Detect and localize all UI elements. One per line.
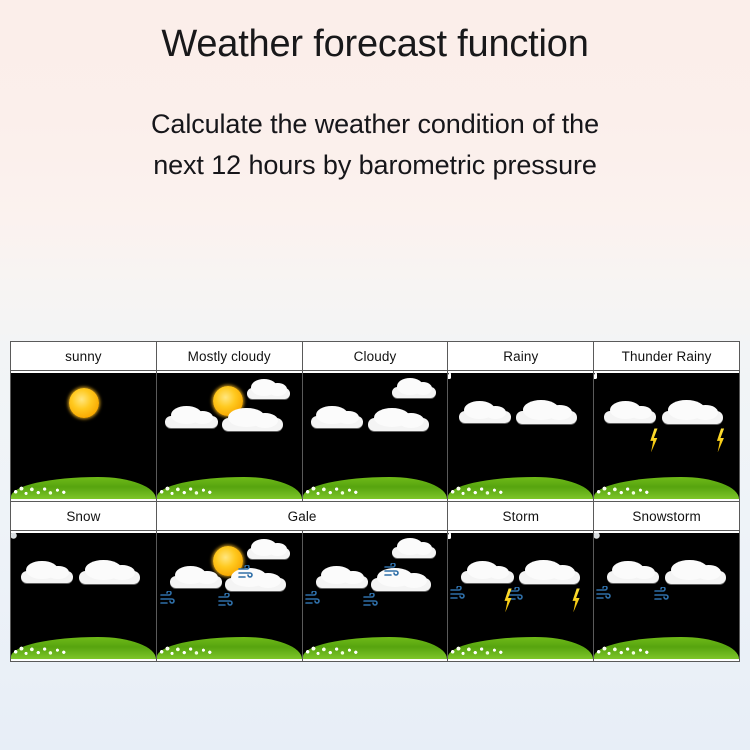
cloud-glyph [368,418,429,431]
table-row-art-2 [11,531,740,662]
table-row-labels-1: sunny Mostly cloudy Cloudy Rainy Thunder… [11,342,740,371]
label-rainy[interactable]: Rainy [448,342,594,371]
table-row-labels-2: Snow Gale Storm Snowstorm [11,502,740,531]
gale-icon [303,533,448,659]
cell-snow[interactable] [11,531,157,662]
wind-icon [238,565,254,579]
label-mostly-cloudy[interactable]: Mostly cloudy [156,342,302,371]
wind-icon [305,591,321,605]
label-snow[interactable]: Snow [11,502,157,531]
grass-strip [11,637,156,659]
wind-icon [363,593,379,607]
grass-strip [303,477,448,499]
cloud-glyph [665,571,726,584]
wind-icon [450,586,466,600]
cloud-glyph [604,411,656,423]
thunderstorm-icon [594,373,739,499]
page-title: Weather forecast function [0,0,750,68]
wind-icon [160,591,176,605]
subtitle-line-2: next 12 hours by barometric pressure [0,145,750,187]
grass-strip [448,637,593,659]
label-gale[interactable]: Gale [156,502,448,531]
storm-icon [448,533,593,659]
weather-forecast-page: Weather forecast function Calculate the … [0,0,750,750]
cloud-glyph [170,576,222,588]
cell-cloudy[interactable] [302,371,448,502]
snow-icon [11,533,156,659]
weather-icon-grid: sunny Mostly cloudy Cloudy Rainy Thunder… [10,341,740,659]
label-cloudy[interactable]: Cloudy [302,342,448,371]
cloud-glyph [607,571,659,583]
label-thunder-rainy[interactable]: Thunder Rainy [594,342,740,371]
cloud-glyph [247,388,290,399]
wind-icon [218,593,234,607]
cell-mostly-cloudy[interactable] [156,371,302,502]
cloud-glyph [516,411,577,424]
cloud-glyph [165,416,217,428]
cloud-glyph [461,571,513,583]
cloud-glyph [519,571,580,584]
wind-icon [654,587,670,601]
weather-table: sunny Mostly cloudy Cloudy Rainy Thunder… [10,341,740,662]
grass-strip [303,637,448,659]
cloud-glyph [79,571,140,584]
grass-strip [157,637,302,659]
cell-sunny[interactable] [11,371,157,502]
rain-icon [448,373,593,499]
header-block: Weather forecast function Calculate the … [0,0,750,187]
cloud-glyph [392,387,435,398]
grass-strip [157,477,302,499]
cell-rainy[interactable] [448,371,594,502]
table-row-art-1 [11,371,740,502]
cloud-glyph [371,578,432,591]
grass-strip [594,637,739,659]
cell-gale-b[interactable] [302,531,448,662]
bottom-background [0,660,750,750]
sun-glyph [69,388,99,418]
label-sunny[interactable]: sunny [11,342,157,371]
lightning-icon [649,428,658,452]
grass-strip [448,477,593,499]
snowstorm-icon [594,533,739,659]
subtitle-line-1: Calculate the weather condition of the [0,104,750,146]
cloud-glyph [222,418,283,431]
cloud-glyph [459,411,511,423]
lightning-icon [716,428,725,452]
cloud-glyph [21,571,73,583]
label-storm[interactable]: Storm [448,502,594,531]
cell-storm[interactable] [448,531,594,662]
cloud-glyph [247,548,290,559]
lightning-icon [571,588,580,612]
page-subtitle: Calculate the weather condition of the n… [0,68,750,188]
cloud-glyph [392,547,435,558]
cloud-glyph [311,416,363,428]
wind-icon [384,563,400,577]
sun-icon [11,373,156,499]
wind-icon [596,586,612,600]
gale-icon [157,533,302,659]
cell-thunder-rainy[interactable] [594,371,740,502]
cloud-icon [303,373,448,499]
sun-cloud-icon [157,373,302,499]
grass-strip [594,477,739,499]
cloud-glyph [225,578,286,591]
grass-strip [11,477,156,499]
cell-gale-a[interactable] [156,531,302,662]
cloud-glyph [662,411,723,424]
cell-snowstorm[interactable] [594,531,740,662]
label-snowstorm[interactable]: Snowstorm [594,502,740,531]
cloud-glyph [316,576,368,588]
